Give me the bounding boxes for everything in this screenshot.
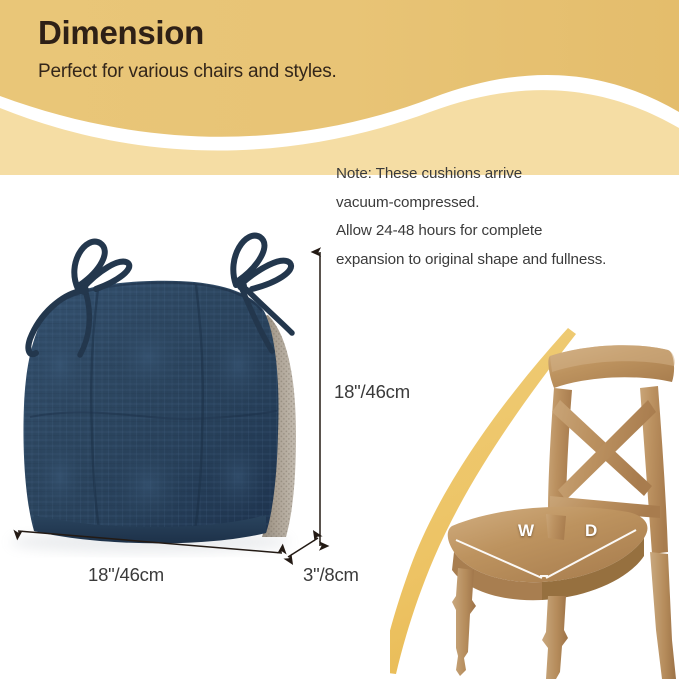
header-banner: Dimension Perfect for various chairs and…	[0, 0, 679, 175]
chair-illustration	[390, 300, 679, 679]
page-title: Dimension	[38, 14, 598, 52]
header-text-group: Dimension Perfect for various chairs and…	[38, 14, 598, 84]
depth-dimension-label: 3"/8cm	[303, 564, 359, 586]
cushion-body	[23, 281, 278, 544]
page-subtitle: Perfect for various chairs and styles.	[38, 61, 598, 84]
note-line-1: Note: These cushions arrive	[336, 160, 666, 189]
infographic-page: Dimension Perfect for various chairs and…	[0, 0, 679, 679]
seat-width-label: W	[518, 521, 535, 541]
note-line-2: vacuum-compressed.	[336, 189, 666, 218]
cushion-product-image	[0, 185, 345, 560]
seat-depth-label: D	[585, 521, 598, 541]
note-line-4: expansion to original shape and fullness…	[336, 246, 666, 275]
width-dimension-label: 18"/46cm	[88, 564, 164, 586]
note-line-3: Allow 24-48 hours for complete	[336, 217, 666, 246]
note-text-block: Note: These cushions arrive vacuum-compr…	[336, 160, 666, 274]
